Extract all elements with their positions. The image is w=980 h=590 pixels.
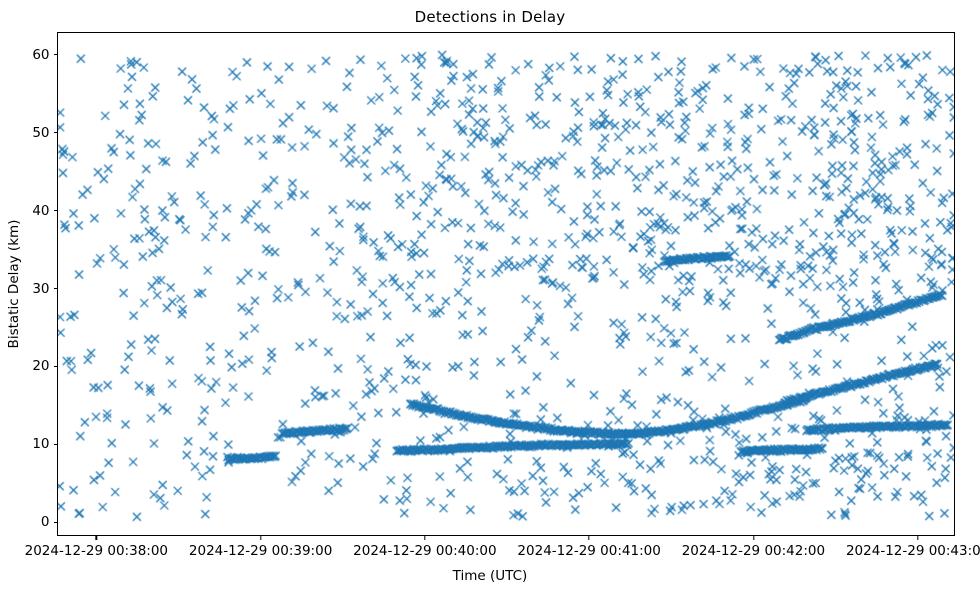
y-axis-tick: 0	[41, 514, 58, 530]
y-axis-label: Bistatic Delay (km)	[6, 220, 22, 349]
x-axis-tick-label: 2024-12-29 00:41:00	[517, 543, 660, 559]
x-axis-tick: 2024-12-29 00:43:00	[846, 535, 980, 559]
x-axis-tick-label: 2024-12-29 00:40:00	[353, 543, 496, 559]
x-axis-tick-mark	[753, 535, 754, 540]
y-axis-tick-mark	[54, 288, 59, 289]
page-title: Detections in Delay	[0, 8, 980, 26]
y-axis-tick-label: 40	[32, 203, 53, 219]
y-axis-tick-label: 0	[41, 514, 54, 530]
x-axis-tick: 2024-12-29 00:42:00	[682, 535, 825, 559]
plot-axes: Bistatic Delay (km) 01020304050602024-12…	[57, 32, 955, 536]
x-axis-tick-label: 2024-12-29 00:42:00	[682, 543, 825, 559]
scatter-plot-canvas	[58, 33, 954, 535]
y-axis-tick: 50	[32, 125, 58, 141]
x-axis-tick: 2024-12-29 00:39:00	[189, 535, 332, 559]
x-axis-tick-mark	[589, 535, 590, 540]
y-axis-tick-mark	[54, 366, 59, 367]
y-axis-tick: 20	[32, 358, 58, 374]
x-axis-tick: 2024-12-29 00:41:00	[517, 535, 660, 559]
y-axis-tick-label: 60	[32, 47, 53, 63]
x-axis-tick-label: 2024-12-29 00:38:00	[25, 543, 168, 559]
x-axis-tick-mark	[96, 535, 97, 540]
x-axis-tick: 2024-12-29 00:40:00	[353, 535, 496, 559]
y-axis-tick-mark	[54, 132, 59, 133]
x-axis-label: Time (UTC)	[0, 568, 980, 584]
x-axis-tick-mark	[260, 535, 261, 540]
y-axis-tick: 60	[32, 47, 58, 63]
y-axis-tick: 40	[32, 203, 58, 219]
y-axis-tick-label: 10	[32, 436, 53, 452]
x-axis-tick-mark	[917, 535, 918, 540]
y-axis-tick-mark	[54, 210, 59, 211]
y-axis-tick: 10	[32, 436, 58, 452]
x-axis-tick-label: 2024-12-29 00:39:00	[189, 543, 332, 559]
y-axis-tick-mark	[54, 54, 59, 55]
y-axis-tick: 30	[32, 281, 58, 297]
figure-canvas: Detections in Delay Bistatic Delay (km) …	[0, 0, 980, 590]
x-axis-tick-mark	[424, 535, 425, 540]
y-axis-tick-label: 20	[32, 358, 53, 374]
y-axis-tick-label: 50	[32, 125, 53, 141]
y-axis-tick-label: 30	[32, 281, 53, 297]
y-axis-tick-mark	[54, 522, 59, 523]
x-axis-tick: 2024-12-29 00:38:00	[25, 535, 168, 559]
y-axis-tick-mark	[54, 444, 59, 445]
x-axis-tick-label: 2024-12-29 00:43:00	[846, 543, 980, 559]
